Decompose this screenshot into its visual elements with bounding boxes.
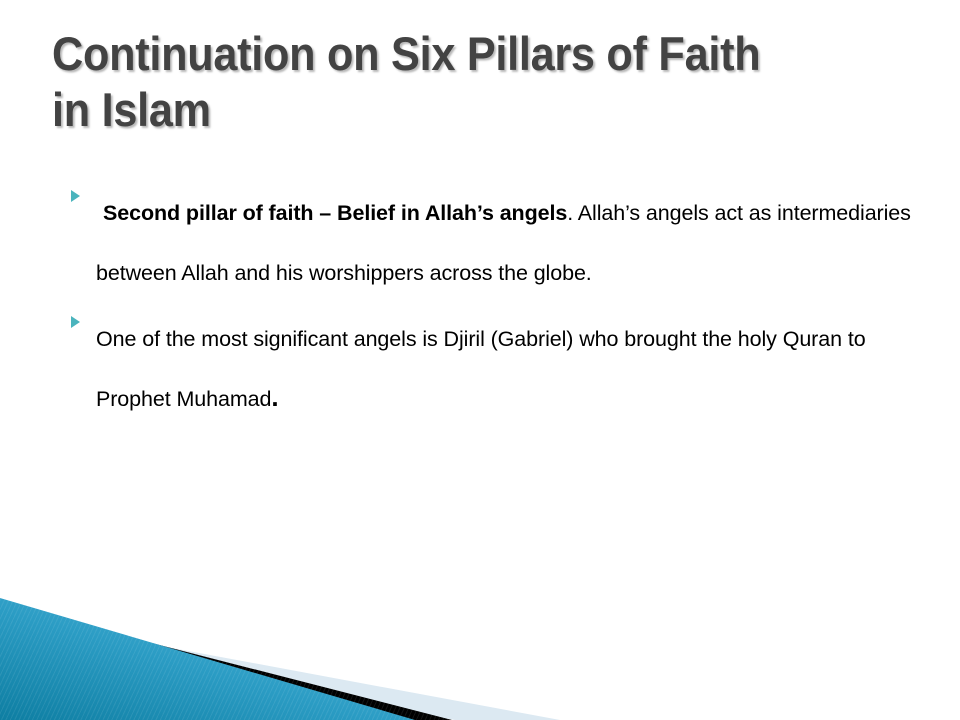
list-item: One of the most significant angels is Dj… (60, 309, 940, 429)
black-stripe (0, 604, 452, 720)
bullet-paragraph: One of the most significant angels is Dj… (96, 309, 940, 429)
teal-triangle (0, 598, 415, 720)
bullet-bold-lead: Second pillar of faith – Belief in Allah… (103, 201, 567, 225)
list-item: Second pillar of faith – Belief in Allah… (60, 183, 940, 303)
pale-stripe (0, 616, 560, 720)
bullet-trailing-period: . (271, 382, 278, 412)
title-block: Continuation on Six Pillars of Faith in … (52, 26, 912, 138)
triangle-right-bullet-icon (71, 190, 80, 202)
bullet-body-text: One of the most significant angels is Dj… (96, 327, 866, 411)
body-content: Second pillar of faith – Belief in Allah… (60, 183, 940, 435)
presentation-slide: Continuation on Six Pillars of Faith in … (0, 0, 960, 720)
triangle-right-bullet-icon (71, 316, 80, 328)
bullet-paragraph: Second pillar of faith – Belief in Allah… (96, 183, 940, 303)
page-title: Continuation on Six Pillars of Faith in … (52, 26, 843, 138)
teal-triangle-texture (0, 580, 960, 720)
angles-corner-graphic (0, 580, 960, 720)
